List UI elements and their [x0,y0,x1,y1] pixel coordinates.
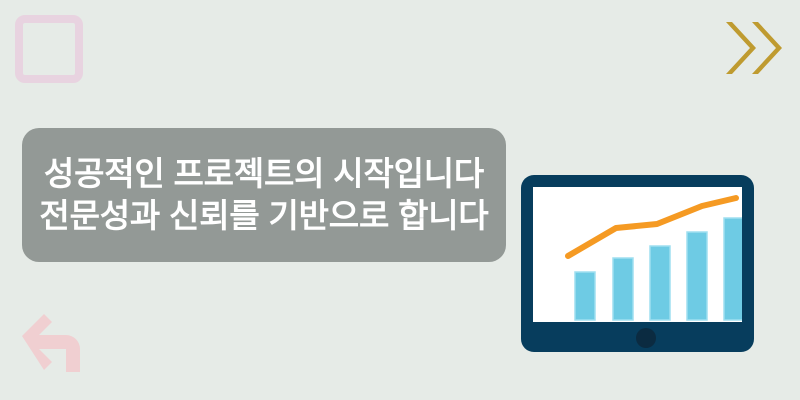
headline-line-1: 성공적인 프로젝트의 시작입니다 [44,153,484,195]
chart-bar [687,232,707,320]
tablet-screen [533,187,742,322]
chart-bar [724,218,742,320]
headline-line-2: 전문성과 신뢰를 기반으로 합니다 [39,195,488,237]
double-chevron-right-icon [722,18,786,78]
outlined-square-icon [15,15,83,83]
tablet-illustration [521,175,754,352]
return-arrow-icon [14,308,94,380]
growth-bar-chart [533,187,742,322]
chart-bar [650,246,670,320]
headline-plate: 성공적인 프로젝트의 시작입니다 전문성과 신뢰를 기반으로 합니다 [22,128,506,262]
chart-bar [575,272,595,320]
chart-bar [613,258,633,320]
tablet-home-button [636,328,656,348]
poster-canvas: 성공적인 프로젝트의 시작입니다 전문성과 신뢰를 기반으로 합니다 [0,0,800,400]
chart-bars [575,218,742,320]
